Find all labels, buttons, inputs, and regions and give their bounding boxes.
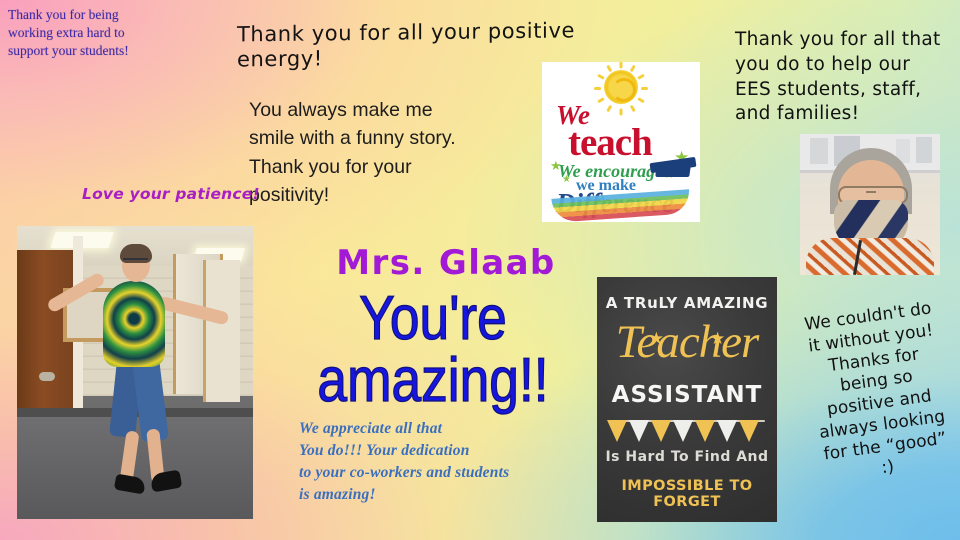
sun-swirl-icon (612, 78, 636, 102)
bunting-flag (607, 420, 627, 442)
note-thank-you-working-hard: Thank you for being working extra hard t… (8, 6, 168, 59)
chalk-line-3: ASSISTANT (597, 382, 777, 408)
sun-ray-icon (620, 109, 623, 116)
photo-hallway-tiedye (17, 226, 253, 519)
sun-ray-icon (597, 97, 605, 103)
sun-ray-icon (630, 105, 636, 113)
photo-detail-supply-box (810, 138, 828, 164)
poster-teacher-assistant-chalkboard: A TRuLY AMAZING ★★ Teacher ASSISTANT Is … (597, 277, 777, 522)
bunting-flag (673, 420, 693, 442)
note-ees-students-staff-families: Thank you for all that you do to help ou… (735, 28, 950, 127)
sun-ray-icon (638, 97, 646, 103)
bunting-flag (651, 420, 671, 442)
chalk-line-4: Is Hard To Find And (597, 449, 777, 465)
note-couldnt-do-it-without-you: We couldn't do it without you! Thanks fo… (781, 296, 960, 491)
bunting-flags-icon (607, 417, 767, 443)
photo-detail-supply-box (916, 137, 932, 163)
photo-masked-portrait (800, 134, 940, 275)
photo-detail-far-door-2 (203, 260, 240, 402)
sun-ray-icon (630, 64, 636, 72)
bunting-flag (739, 420, 759, 442)
sun-ray-icon (594, 87, 601, 90)
graduation-cap-base-icon (655, 166, 691, 177)
poster-we-teach: ★ ★ ★ ★ We teach We encourage we make a … (542, 62, 700, 222)
photo-detail-doorknob (39, 372, 55, 381)
appreciation-slide: Thank you for being working extra hard t… (0, 0, 960, 540)
sun-ray-icon (641, 87, 648, 90)
photo-detail-tiedye-shirt (103, 281, 165, 367)
bunting-flag (695, 420, 715, 442)
chalk-line-5: IMPOSSIBLE TO FORGET (597, 478, 777, 510)
bunting-flag (629, 420, 649, 442)
glasses-icon (123, 258, 148, 266)
sun-ray-icon (606, 64, 612, 72)
photo-detail-floral-shirt (806, 238, 934, 275)
sun-ray-icon (606, 105, 612, 113)
glasses-bridge-icon (866, 191, 876, 193)
sun-ray-icon (597, 74, 605, 80)
bunting-flag (717, 420, 737, 442)
chalk-line-1: A TRuLY AMAZING (597, 294, 777, 312)
headline-youre-amazing: You're amazing!! (274, 288, 592, 412)
sun-ray-icon (620, 62, 623, 69)
chalk-line-2: Teacher (597, 315, 777, 369)
sun-ray-icon (638, 74, 646, 80)
poster-teach-label: teach (568, 120, 652, 165)
page-title: Mrs. Glaab (286, 243, 606, 283)
note-we-appreciate-dedication: We appreciate all that You do!!! Your de… (299, 418, 599, 507)
note-love-your-patience: Love your patience! (82, 185, 302, 204)
